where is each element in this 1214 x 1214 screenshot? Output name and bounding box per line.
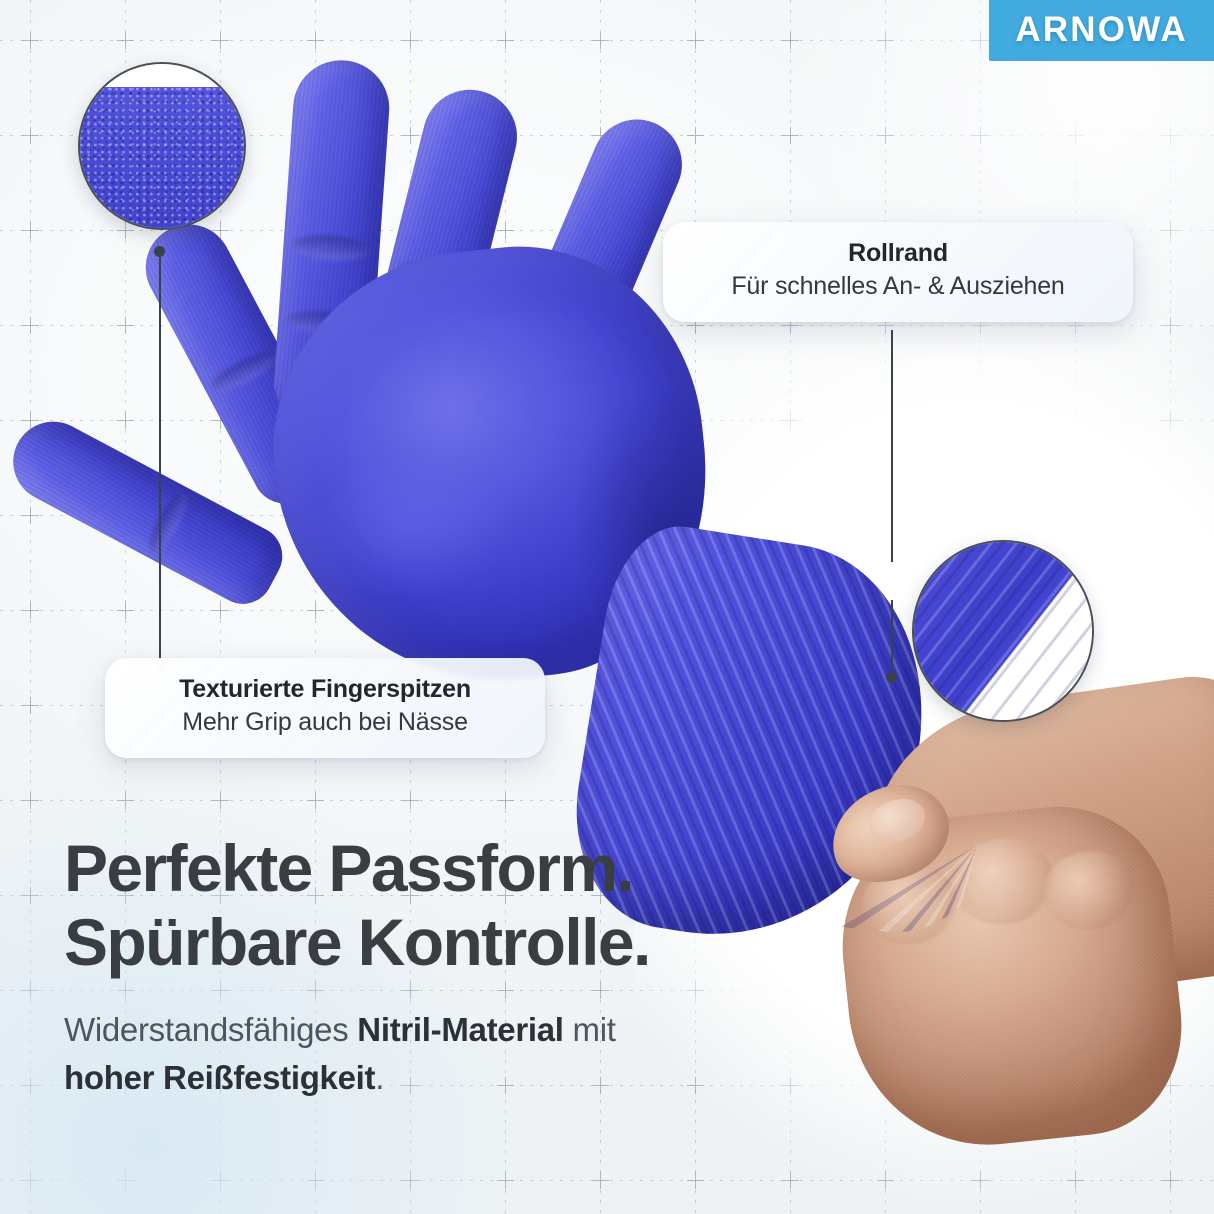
zoom-circle-texture-grain — [80, 87, 244, 228]
zoom-circle-cuff-stretch — [912, 540, 1094, 722]
callout-rollrand-title: Rollrand — [689, 238, 1107, 269]
product-marketing-image: Rollrand Für schnelles An- & Ausziehen T… — [0, 0, 1214, 1214]
zoom-circle-fingertip-texture — [78, 62, 246, 230]
finger-crease — [143, 488, 193, 557]
headline: Perfekte Passform. Spürbare Kontrolle. — [64, 832, 764, 980]
finger-crease — [291, 233, 372, 263]
callout-rollrand: Rollrand Für schnelles An- & Ausziehen — [663, 222, 1133, 322]
headline-line-2: Spürbare Kontrolle. — [64, 906, 764, 980]
headline-line-1: Perfekte Passform. — [64, 831, 633, 905]
zoom-circle-fold-streaks — [914, 542, 1092, 720]
callout-textured-fingertips: Texturierte Fingerspitzen Mehr Grip auch… — [105, 658, 545, 758]
finger-crease — [206, 345, 282, 399]
callout-fingertips-subtitle: Mehr Grip auch bei Nässe — [131, 707, 519, 738]
callout-fingertips-title: Texturierte Fingerspitzen — [131, 674, 519, 705]
marketing-copy: Perfekte Passform. Spürbare Kontrolle. W… — [64, 832, 764, 1102]
brand-logo-text: ARNOWA — [1015, 12, 1188, 47]
leader-anchor-dot-cuff — [886, 672, 897, 683]
subcopy-part-3: . — [375, 1059, 384, 1096]
subcopy: Widerstandsfähiges Nitril-Material mit h… — [64, 1006, 764, 1102]
leader-line-rollrand — [891, 330, 893, 562]
callout-rollrand-subtitle: Für schnelles An- & Ausziehen — [689, 271, 1107, 302]
subcopy-bold-nitril: Nitril-Material — [357, 1011, 563, 1048]
subcopy-bold-reissfestigkeit: hoher Reißfestigkeit — [64, 1059, 375, 1096]
leader-anchor-dot-fingertip — [154, 246, 165, 257]
leader-line-fingertips — [159, 252, 161, 672]
subcopy-line-2: hoher Reißfestigkeit. — [64, 1054, 764, 1102]
brand-logo: ARNOWA — [989, 0, 1214, 61]
subcopy-part-2: mit — [564, 1011, 616, 1048]
subcopy-part-1: Widerstandsfähiges — [64, 1011, 357, 1048]
leader-line-cuff — [891, 600, 893, 678]
